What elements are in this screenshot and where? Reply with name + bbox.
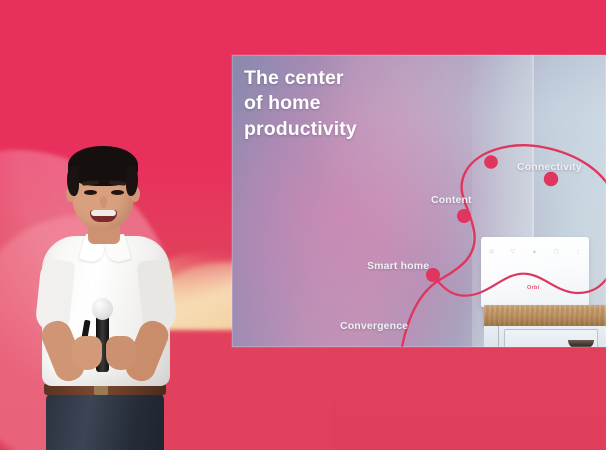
presenter-jeans [46, 392, 164, 450]
slide-title-line-2: of home [244, 91, 357, 116]
node-label-content: Content [431, 194, 472, 206]
presenter-hair-left [67, 166, 79, 196]
node-label-convergence: Convergence [340, 320, 408, 332]
slide-title: The center of home productivity [244, 66, 357, 142]
node-label-smart-home: Smart home [367, 260, 429, 272]
journey-wave-path [433, 274, 606, 296]
presenter-nose [100, 196, 107, 208]
presenter-eye-left [84, 190, 97, 195]
screenshot-stage: ◎ ▽ ▲ ◻ ⋮ Orbi The center [0, 0, 606, 450]
projected-slide: ◎ ▽ ▲ ◻ ⋮ Orbi The center [232, 55, 606, 347]
presenter-teeth [91, 210, 116, 216]
presenter-hand-left [72, 336, 102, 370]
presenter-eye-right [111, 190, 124, 195]
node-dot-connectivity[interactable] [544, 172, 558, 186]
slide-title-line-3: productivity [244, 117, 357, 142]
node-dot-smart-home[interactable] [457, 209, 471, 223]
microphone-head [92, 298, 113, 320]
journey-curve-path [402, 145, 606, 347]
slide-title-line-1: The center [244, 66, 357, 91]
node-label-connectivity: Connectivity [517, 161, 582, 173]
node-dot-content[interactable] [484, 155, 498, 169]
presenter-figure [20, 140, 195, 450]
presenter-hand-right [106, 336, 136, 370]
presenter-mouth [90, 210, 117, 222]
